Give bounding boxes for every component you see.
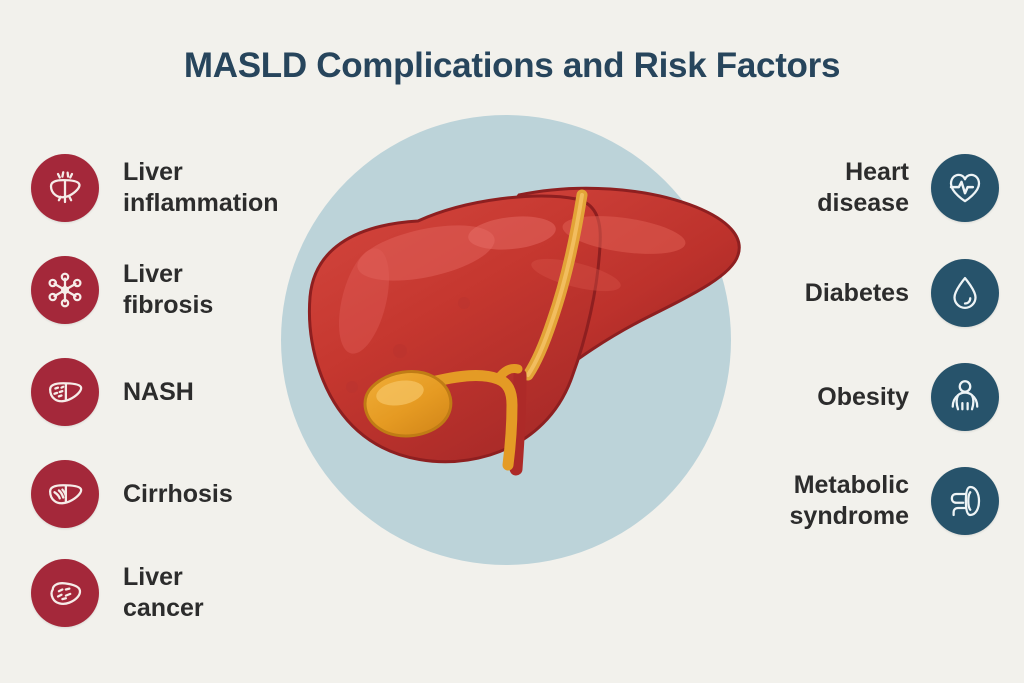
liver-texture-dot xyxy=(393,344,407,358)
risk-factor-label: Obesity xyxy=(817,382,909,413)
risk-factor-item-heart-disease[interactable]: Heart disease xyxy=(817,154,999,222)
liver-steatosis-icon xyxy=(31,358,99,426)
liver-illustration xyxy=(281,115,741,575)
liver-cirrhosis-icon xyxy=(31,460,99,528)
complication-label: Liver cancer xyxy=(123,562,204,624)
complication-label: Cirrhosis xyxy=(123,479,233,510)
complication-item-cirrhosis[interactable]: Cirrhosis xyxy=(31,460,233,528)
risk-factor-item-metabolic-syndrome[interactable]: Metabolic syndrome xyxy=(790,467,999,535)
risk-factor-item-obesity[interactable]: Obesity xyxy=(817,363,999,431)
risk-factor-label: Metabolic syndrome xyxy=(790,470,909,532)
blood-drop-icon xyxy=(931,259,999,327)
infographic-canvas: MASLD Complications and Risk Factors xyxy=(0,0,1024,683)
risk-factor-label: Heart disease xyxy=(817,157,909,219)
page-title: MASLD Complications and Risk Factors xyxy=(0,46,1024,86)
fibrosis-network-icon xyxy=(31,256,99,324)
complication-label: NASH xyxy=(123,377,194,408)
risk-factor-item-diabetes[interactable]: Diabetes xyxy=(805,259,999,327)
obese-body-icon xyxy=(931,363,999,431)
liver-inflammation-icon xyxy=(31,154,99,222)
liver-tumor-icon xyxy=(31,559,99,627)
complication-item-liver-inflammation[interactable]: Liver inflammation xyxy=(31,154,279,222)
complication-item-liver-cancer[interactable]: Liver cancer xyxy=(31,559,204,627)
complication-label: Liver inflammation xyxy=(123,157,279,219)
liver-texture-dot xyxy=(458,297,470,309)
heart-pulse-icon xyxy=(931,154,999,222)
liver-anatomy-svg xyxy=(276,125,756,555)
risk-factor-label: Diabetes xyxy=(805,278,909,309)
complication-item-liver-fibrosis[interactable]: Liver fibrosis xyxy=(31,256,213,324)
complication-item-nash[interactable]: NASH xyxy=(31,358,194,426)
liver-texture-dot xyxy=(346,381,358,393)
metabolism-organ-icon xyxy=(931,467,999,535)
complication-label: Liver fibrosis xyxy=(123,259,213,321)
